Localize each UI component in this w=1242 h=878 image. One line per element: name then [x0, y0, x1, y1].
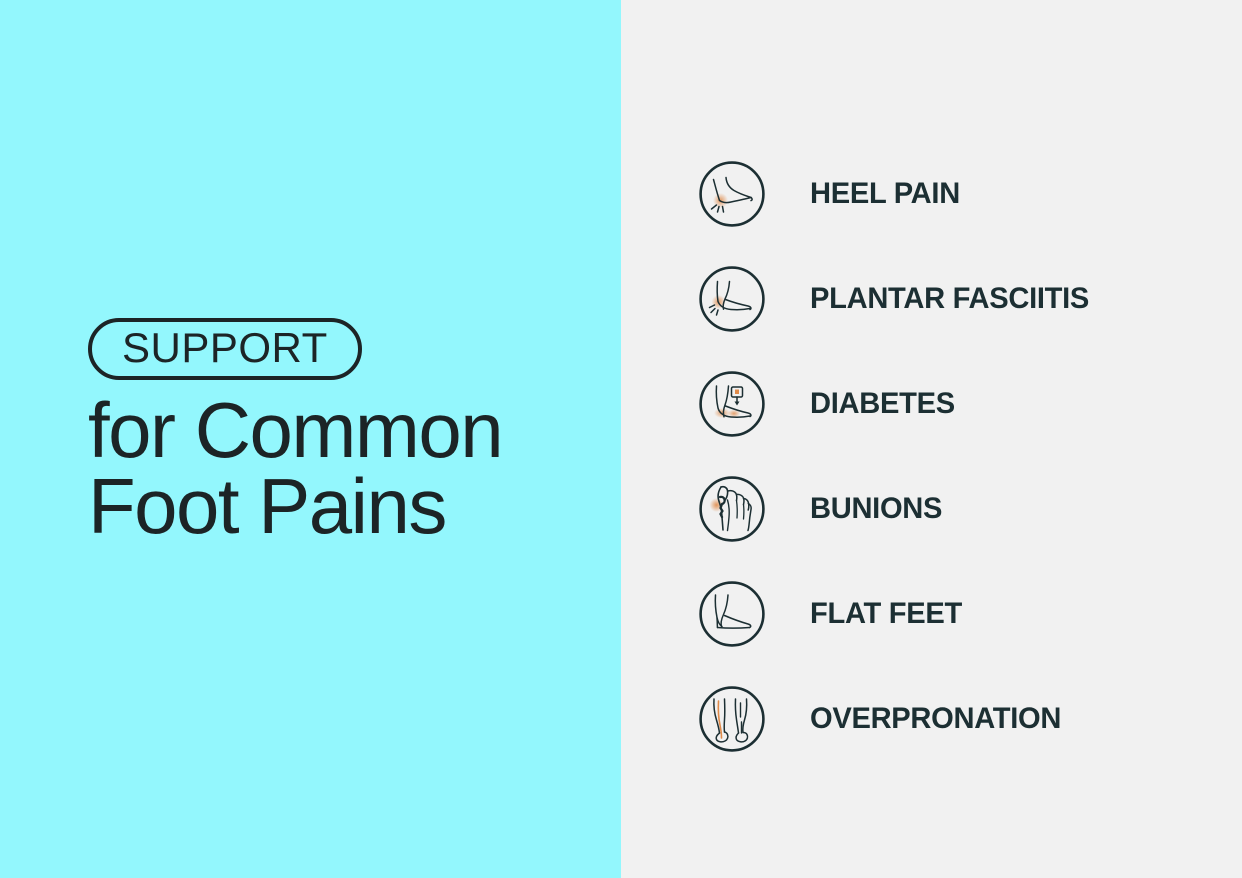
foot-pain-support-poster: SUPPORT for Common Foot Pains: [0, 0, 1242, 878]
condition-label: FLAT FEET: [810, 599, 962, 629]
condition-label: BUNIONS: [810, 494, 942, 524]
diabetes-foot-icon: [698, 370, 766, 438]
condition-label: OVERPRONATION: [810, 704, 1061, 734]
headline-line-2: Foot Pains: [88, 468, 588, 544]
condition-label: DIABETES: [810, 389, 955, 419]
headline-line-1: for Common: [88, 392, 588, 468]
right-conditions-panel: HEEL PAIN: [621, 0, 1242, 878]
page-title: for Common Foot Pains: [88, 388, 588, 545]
list-item: DIABETES: [698, 368, 1098, 440]
heel-pain-foot-icon: [698, 160, 766, 228]
list-item: OVERPRONATION: [698, 683, 1098, 755]
condition-label: HEEL PAIN: [810, 179, 960, 209]
condition-list: HEEL PAIN: [698, 158, 1098, 755]
list-item: FLAT FEET: [698, 578, 1098, 650]
plantar-fasciitis-foot-icon: [698, 265, 766, 333]
overpronation-ankles-icon: [698, 685, 766, 753]
flat-feet-arch-icon: [698, 580, 766, 648]
list-item: PLANTAR FASCIITIS: [698, 263, 1098, 335]
support-eyebrow-pill: SUPPORT: [88, 318, 362, 380]
left-accent-panel: SUPPORT for Common Foot Pains: [0, 0, 621, 878]
headline-block: SUPPORT for Common Foot Pains: [88, 318, 588, 545]
list-item: HEEL PAIN: [698, 158, 1098, 230]
bunion-toes-icon: [698, 475, 766, 543]
support-eyebrow-label: SUPPORT: [122, 327, 328, 369]
list-item: BUNIONS: [698, 473, 1098, 545]
condition-label: PLANTAR FASCIITIS: [810, 284, 1089, 314]
